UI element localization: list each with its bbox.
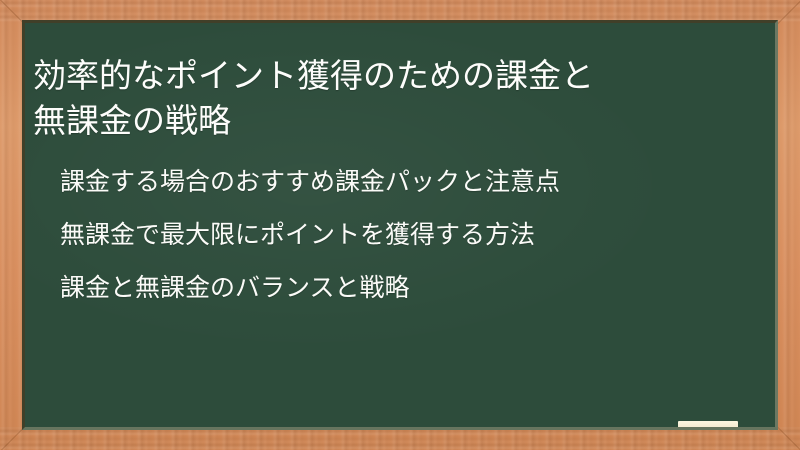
chalk-stick-icon	[678, 421, 738, 427]
chalkboard-wooden-frame: 効率的なポイント獲得のための課金と 無課金の戦略 課金する場合のおすすめ課金パッ…	[0, 0, 800, 450]
list-item: 無課金で最大限にポイントを獲得する方法	[60, 209, 760, 262]
list-item: 課金と無課金のバランスと戦略	[60, 262, 760, 315]
chalkboard-bevel: 効率的なポイント獲得のための課金と 無課金の戦略 課金する場合のおすすめ課金パッ…	[22, 20, 778, 430]
topic-list: 課金する場合のおすすめ課金パックと注意点 無課金で最大限にポイントを獲得する方法…	[60, 156, 760, 315]
list-item: 課金する場合のおすすめ課金パックと注意点	[60, 156, 760, 209]
page-title: 効率的なポイント獲得のための課金と 無課金の戦略	[33, 53, 759, 143]
frame-grain-top	[0, 0, 800, 22]
frame-grain-bottom	[0, 427, 800, 450]
chalkboard-surface: 効率的なポイント獲得のための課金と 無課金の戦略 課金する場合のおすすめ課金パッ…	[25, 23, 775, 427]
